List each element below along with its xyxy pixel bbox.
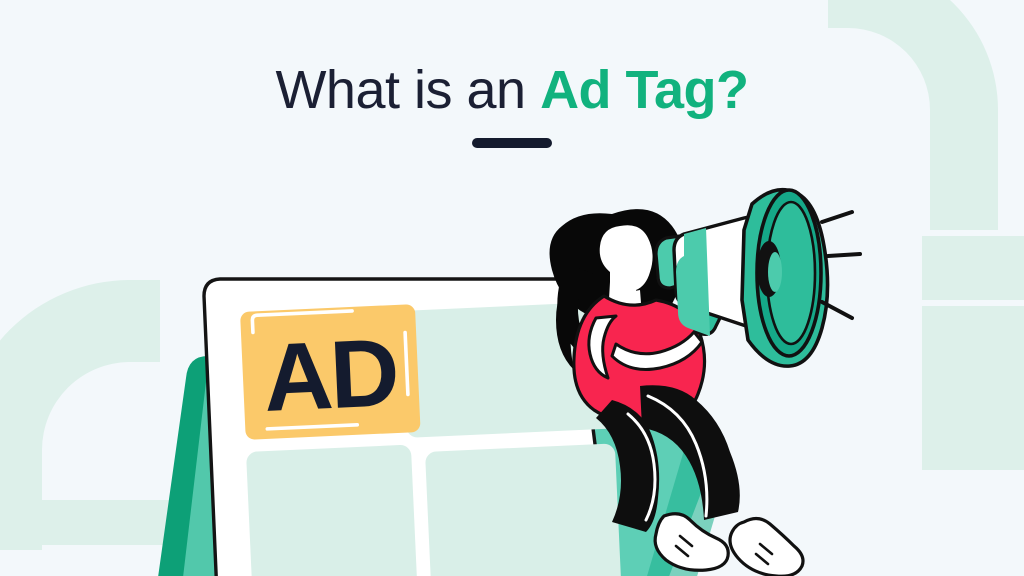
megaphone-mouth-highlight-icon [768, 252, 782, 292]
tile-bottom-left [246, 445, 418, 576]
ad-block[interactable]: AD [240, 304, 421, 440]
ad-block-label: AD [261, 319, 398, 432]
page-title-accent: Ad Tag? [540, 60, 748, 120]
tile-bottom-right [425, 443, 622, 576]
sound-wave-2-icon [828, 254, 860, 256]
illustration-banner: AD [0, 0, 1024, 576]
page-title-plain: What is an [275, 60, 540, 120]
shoe-right-icon [730, 518, 803, 576]
title-underline-rule [472, 138, 552, 148]
sound-wave-1-icon [822, 212, 852, 222]
shoe-left-icon [655, 514, 728, 571]
page-title: What is an Ad Tag? [0, 58, 1024, 122]
